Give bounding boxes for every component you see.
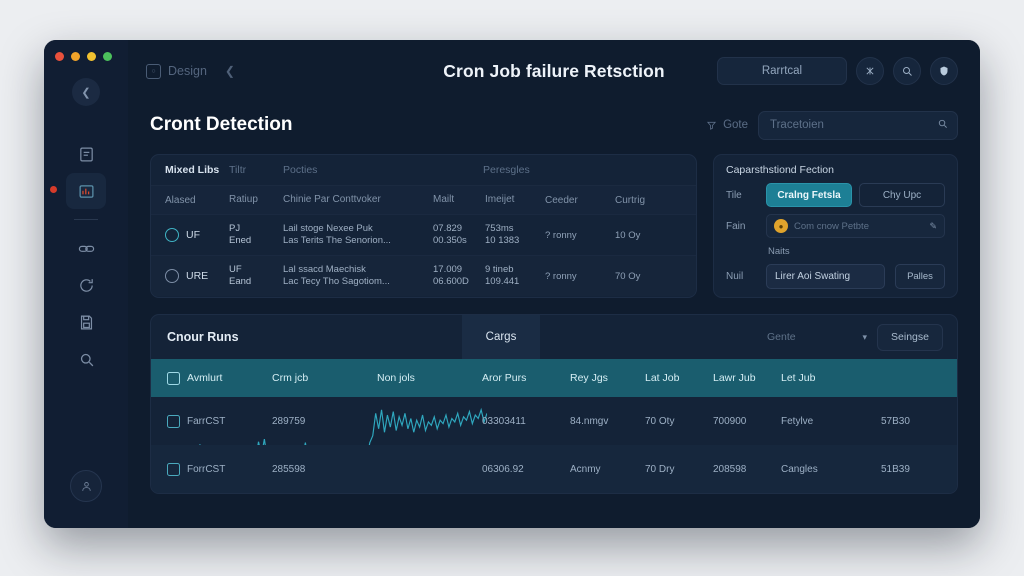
row-name-label: URE [186, 270, 208, 282]
main-area: ○ Design ❮ Cron Job failure Retsction Ra… [128, 40, 980, 528]
segment-active[interactable]: Cralng Fetsla [766, 183, 852, 207]
col-alased: Alased [165, 195, 229, 206]
table-row[interactable]: URE UF Eand Lal ssacd Maechisk Lac Tecy … [151, 255, 696, 296]
sidebar-item-link[interactable] [66, 230, 106, 266]
col-curtrig: Curtrig [615, 195, 663, 206]
col-lawr-jub: Lawr Jub [713, 372, 781, 384]
search-icon [901, 65, 913, 77]
run-c5: 70 Dry [645, 464, 713, 475]
app-icon: ○ [146, 64, 161, 79]
config-field-text: Com cnow Petbte [794, 221, 869, 232]
search-field[interactable] [758, 111, 958, 140]
configuration-title: Caparsthstiond Fection [714, 155, 957, 176]
col-aror-purs: Aror Purs [482, 372, 570, 384]
col-ratiup: Ratiup [229, 194, 283, 206]
page-header: Cront Detection Gote [128, 102, 980, 148]
run-c4: Acnmy [570, 464, 645, 475]
mixed-libs-header: Mixed Libs Tiltr Pocties Peresgles [151, 155, 696, 186]
row-col3: 17.009 06.600D [433, 264, 485, 288]
row-col4: 9 tineb 109.441 [485, 264, 545, 288]
table-row[interactable]: UF PJ Ened Lail stoge Nexee Puk Las Teri… [151, 214, 696, 255]
page-title: Cront Detection [150, 114, 293, 136]
col-let-jub: Let Jub [781, 372, 881, 384]
gote-label: Gote [723, 119, 748, 131]
col-avmlurt: Avmlurt [167, 372, 272, 385]
edit-icon[interactable]: ✎ [929, 221, 937, 232]
col-avmlurt-label: Avmlurt [187, 372, 222, 384]
config-input[interactable]: Lirer Aoi Swating [766, 264, 885, 289]
row-col5: ? ronny [545, 230, 615, 241]
user-avatar-icon [80, 480, 93, 493]
sidebar-item-refresh[interactable] [66, 267, 106, 303]
run-c3: 06306.92 [482, 464, 570, 475]
run-name-label: FarrCST [187, 416, 225, 427]
avatar: ● [774, 219, 788, 233]
mixed-libs-columns: Alased Ratiup Chinie Par Conttvoker Mail… [151, 186, 696, 214]
filter-icon [706, 120, 717, 131]
run-c4: 84.nmgv [570, 416, 645, 427]
sidebar-item-search[interactable] [66, 341, 106, 377]
col-ceeder: Ceeder [545, 195, 615, 206]
row-name: UF [165, 228, 229, 242]
bar-chart-icon [78, 183, 95, 200]
select-all-checkbox[interactable] [167, 372, 180, 385]
fullscreen-light[interactable] [103, 52, 112, 61]
minimize-light[interactable] [71, 52, 80, 61]
label-fain: Fain [726, 221, 756, 232]
zoom-light[interactable] [87, 52, 96, 61]
header-peresgles: Peresgles [483, 164, 530, 176]
refresh-icon [78, 277, 95, 294]
tab-cargs[interactable]: Cargs [462, 315, 540, 359]
run-name: ForrCST [167, 463, 272, 476]
row-col2: Lal ssacd Maechisk Lac Tecy Tho Sagotiom… [283, 264, 433, 288]
sidebar-collapse-button[interactable]: ❮ [72, 78, 100, 106]
col-mailt: Mailt [433, 194, 485, 206]
breadcrumb[interactable]: ○ Design [146, 64, 207, 79]
row-name: URE [165, 269, 229, 283]
close-light[interactable] [55, 52, 64, 61]
table-row[interactable]: FarrCST 289759 03303411 84.nmgv 70 Oty 7… [151, 397, 957, 445]
col-rey-jgs: Rey Jgs [570, 372, 645, 384]
card-row: Mixed Libs Tiltr Pocties Peresgles Alase… [128, 148, 980, 298]
col-crm-jcb: Crm jcb [272, 372, 377, 384]
breadcrumb-back-button[interactable]: ❮ [225, 64, 235, 78]
config-field[interactable]: ● Com cnow Petbte ✎ [766, 214, 945, 238]
header-mixed-libs: Mixed Libs [165, 164, 229, 176]
settings-button[interactable]: Seingse [877, 324, 943, 351]
shield-icon [938, 65, 950, 77]
row-col3: 07.829 00.350s [433, 223, 485, 247]
segmented-control: Cralng Fetsla Chy Upc [766, 183, 945, 207]
configuration-row-fain: Fain ● Com cnow Petbte ✎ [714, 207, 957, 238]
runs-table-header: Avmlurt Crm jcb Non jols Aror Purs Rey J… [151, 359, 957, 397]
label-naits: Naits [714, 238, 957, 257]
run-c7: Fetylve [781, 416, 881, 427]
mixed-libs-card: Mixed Libs Tiltr Pocties Peresgles Alase… [150, 154, 697, 298]
configuration-card: Caparsthstiond Fection Tile Cralng Fetsl… [713, 154, 958, 298]
sidebar-item-analytics[interactable] [66, 173, 106, 209]
notification-badge [50, 186, 57, 193]
row-col5: ? ronny [545, 271, 615, 282]
run-name-label: ForrCST [187, 464, 225, 475]
row-name-label: UF [186, 229, 200, 241]
shield-button[interactable] [930, 57, 958, 85]
row-checkbox[interactable] [167, 463, 180, 476]
run-c8: 51B39 [881, 464, 941, 475]
label-nuil: Nuil [726, 271, 756, 282]
sidebar-item-save[interactable] [66, 304, 106, 340]
gote-filter[interactable]: Gote [706, 119, 748, 131]
user-avatar-button[interactable] [70, 470, 102, 502]
action-pill-button[interactable]: Rarrtcal [717, 57, 847, 85]
cnour-runs-panel: Cnour Runs Cargs Gente ▾ Seingse Avmlurt… [150, 314, 958, 494]
col-imeijet: Imeijet [485, 194, 545, 206]
row-col6: 10 Oy [615, 230, 663, 241]
top-bar: ○ Design ❮ Cron Job failure Retsction Ra… [128, 40, 980, 102]
run-c3: 03303411 [482, 416, 570, 427]
run-c6: 700900 [713, 416, 781, 427]
run-c5: 70 Oty [645, 416, 713, 427]
row-checkbox[interactable] [167, 415, 180, 428]
window-traffic-lights [44, 52, 112, 61]
run-c1: 289759 [272, 416, 377, 427]
page-header-actions: Gote [706, 111, 958, 140]
sidebar-divider [74, 219, 98, 220]
panel-actions: Gente ▾ Seingse [767, 324, 957, 351]
sparkle-icon [864, 65, 876, 77]
row-col4: 753ms 10 1383 [485, 223, 545, 247]
run-c1: 285598 [272, 464, 377, 475]
panel-header: Cnour Runs Cargs Gente ▾ Seingse [151, 315, 957, 359]
configuration-row-tile: Tile Cralng Fetsla Chy Upc [714, 176, 957, 207]
segment-inactive[interactable]: Chy Upc [859, 183, 945, 207]
sparkle-button[interactable] [856, 57, 884, 85]
run-c7: Cangles [781, 464, 881, 475]
app-window: ❮ [44, 40, 980, 528]
gente-select[interactable]: Gente ▾ [767, 325, 867, 349]
run-c8: 57B30 [881, 416, 941, 427]
screen: ❮ [0, 0, 1024, 576]
search-icon [78, 351, 95, 368]
gente-select-value: Gente [767, 331, 796, 343]
table-row[interactable]: ForrCST 285598 06306.92 Acnmy 70 Dry 208… [151, 445, 957, 493]
palles-button[interactable]: Palles [895, 264, 945, 289]
search-button[interactable] [893, 57, 921, 85]
row-col2: Lail stoge Nexee Puk Las Terits The Seno… [283, 223, 433, 247]
chevron-left-icon: ❮ [81, 86, 90, 99]
link-icon [78, 240, 95, 257]
circle-clock-icon [165, 269, 179, 283]
search-input[interactable] [768, 118, 931, 132]
sidebar-item-document[interactable] [66, 136, 106, 172]
row-col1: PJ Ened [229, 223, 283, 247]
document-icon [78, 146, 95, 163]
save-icon [78, 314, 95, 331]
row-col1: UF Eand [229, 264, 283, 288]
run-name: FarrCST [167, 415, 272, 428]
sidebar-nav [44, 136, 128, 377]
col-lat-job: Lat Job [645, 372, 713, 384]
circle-check-icon [165, 228, 179, 242]
run-c6: 208598 [713, 464, 781, 475]
header-tiltr: Tiltr [229, 164, 283, 176]
configuration-row-nuil: Nuil Lirer Aoi Swating Palles [714, 257, 957, 289]
col-non-jols: Non jols [377, 372, 482, 384]
search-icon [937, 116, 948, 134]
sidebar: ❮ [44, 40, 128, 528]
header-pocties: Pocties [283, 164, 483, 176]
chevron-down-icon: ▾ [862, 332, 867, 343]
label-tile: Tile [726, 190, 756, 201]
col-chinie: Chinie Par Conttvoker [283, 194, 433, 206]
breadcrumb-label: Design [168, 64, 207, 78]
row-col6: 70 Oy [615, 271, 663, 282]
panel-title: Cnour Runs [151, 330, 239, 344]
runs-table-body: FarrCST 289759 03303411 84.nmgv 70 Oty 7… [151, 397, 957, 493]
top-actions: Rarrtcal [717, 57, 958, 85]
